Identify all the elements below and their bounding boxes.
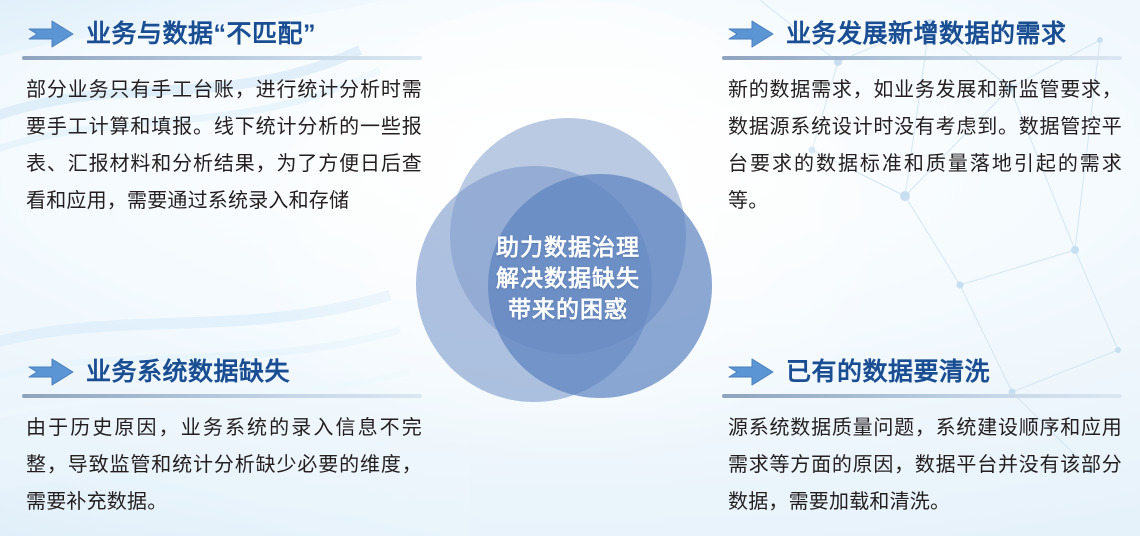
- block-divider-bottom-left: [22, 394, 422, 398]
- arrow-right-icon: [728, 358, 774, 386]
- block-title-bottom-left: 业务系统数据缺失: [86, 357, 290, 387]
- block-title-top-right: 业务发展新增数据的需求: [786, 19, 1067, 49]
- block-bottom-right: 已有的数据要清洗 源系统数据质量问题，系统建设顺序和应用需求等方面的原因，数据平…: [722, 352, 1122, 521]
- slide-canvas: 助力数据治理 解决数据缺失 带来的困惑 业务与数据“不匹配” 部分业务只有手工台…: [0, 0, 1140, 536]
- block-title-top-left: 业务与数据“不匹配”: [86, 19, 316, 49]
- block-top-right: 业务发展新增数据的需求 新的数据需求，如业务发展和新监管要求，数据源系统设计时没…: [722, 14, 1122, 220]
- venn-label-line-1: 助力数据治理: [408, 232, 728, 263]
- center-venn-graphic: 助力数据治理 解决数据缺失 带来的困惑: [408, 108, 728, 408]
- block-bottom-left: 业务系统数据缺失 由于历史原因，业务系统的录入信息不完整，导致监管和统计分析缺少…: [22, 352, 422, 521]
- block-body-top-left: 部分业务只有手工台账，进行统计分析时需要手工计算和填报。线下统计分析的一些报表、…: [22, 72, 422, 220]
- block-body-bottom-left: 由于历史原因，业务系统的录入信息不完整，导致监管和统计分析缺少必要的维度，需要补…: [22, 410, 422, 521]
- block-divider-top-right: [722, 56, 1122, 60]
- block-header-bottom-left: 业务系统数据缺失: [22, 352, 422, 392]
- arrow-right-icon: [728, 20, 774, 48]
- center-venn-label: 助力数据治理 解决数据缺失 带来的困惑: [408, 232, 728, 325]
- block-body-bottom-right: 源系统数据质量问题，系统建设顺序和应用需求等方面的原因，数据平台并没有该部分数据…: [722, 410, 1122, 521]
- venn-label-line-2: 解决数据缺失: [408, 263, 728, 294]
- block-body-top-right: 新的数据需求，如业务发展和新监管要求，数据源系统设计时没有考虑到。数据管控平台要…: [722, 72, 1122, 220]
- block-title-bottom-right: 已有的数据要清洗: [786, 357, 990, 387]
- block-header-bottom-right: 已有的数据要清洗: [722, 352, 1122, 392]
- venn-label-line-3: 带来的困惑: [408, 294, 728, 325]
- block-header-top-left: 业务与数据“不匹配”: [22, 14, 422, 54]
- arrow-right-icon: [28, 20, 74, 48]
- block-divider-top-left: [22, 56, 422, 60]
- block-header-top-right: 业务发展新增数据的需求: [722, 14, 1122, 54]
- arrow-right-icon: [28, 358, 74, 386]
- block-top-left: 业务与数据“不匹配” 部分业务只有手工台账，进行统计分析时需要手工计算和填报。线…: [22, 14, 422, 220]
- block-divider-bottom-right: [722, 394, 1122, 398]
